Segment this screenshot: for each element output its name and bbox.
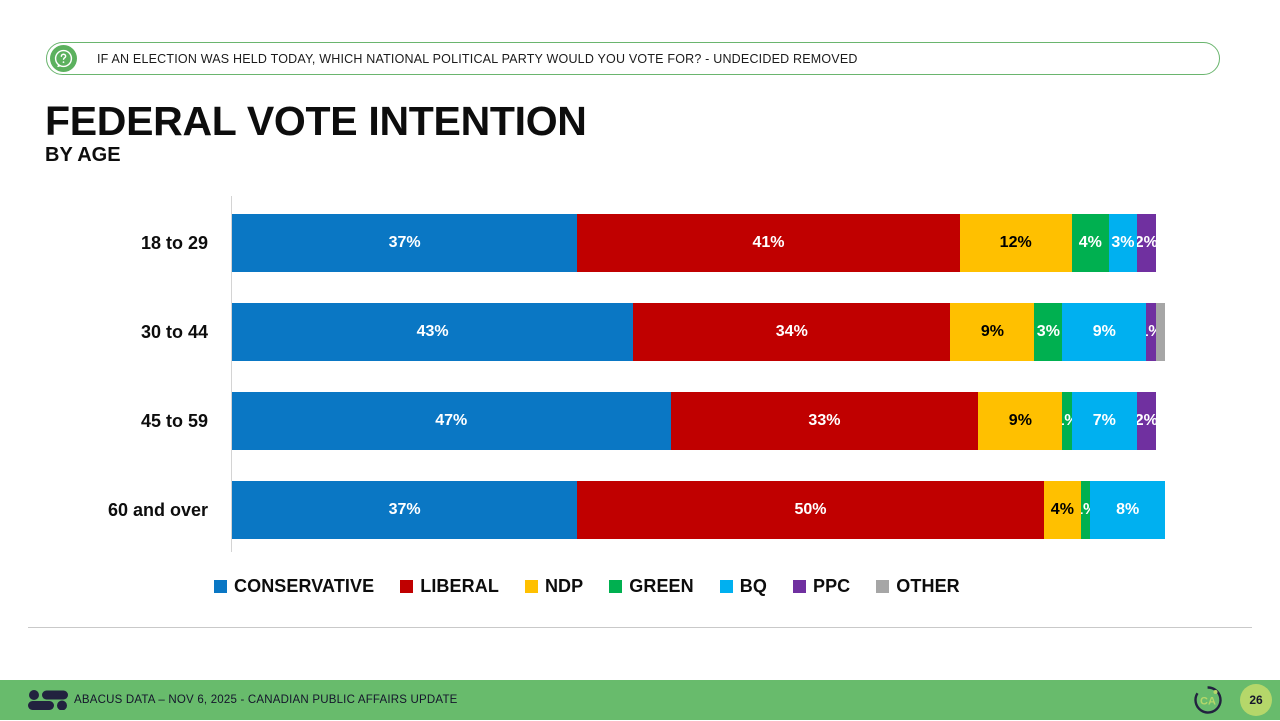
bar-segment-value: 8%	[1116, 501, 1139, 519]
question-mark-circle-icon	[50, 45, 77, 72]
bar-segment-green: 4%	[1072, 214, 1109, 272]
bar-segment-liberal: 33%	[671, 392, 979, 450]
bar-row: 45 to 5947%33%9%1%7%2%	[0, 392, 1280, 481]
bar-track: 37%50%4%1%8%	[232, 481, 1165, 539]
legend-swatch-icon	[400, 580, 413, 593]
bottom-divider	[28, 627, 1252, 628]
legend-swatch-icon	[720, 580, 733, 593]
legend-label: NDP	[545, 576, 583, 597]
bar-row: 30 to 4443%34%9%3%9%1%	[0, 303, 1280, 392]
bar-track: 47%33%9%1%7%2%	[232, 392, 1165, 450]
bar-segment-liberal: 34%	[633, 303, 950, 361]
bar-segment-value: 1%	[1062, 412, 1071, 430]
bar-segment-bq: 3%	[1109, 214, 1137, 272]
bar-segment-value: 9%	[1093, 323, 1116, 341]
bar-segment-ndp: 4%	[1044, 481, 1081, 539]
chart-legend: CONSERVATIVELIBERALNDPGREENBQPPCOTHER	[214, 574, 986, 598]
legend-label: LIBERAL	[420, 576, 499, 597]
bar-segment-ppc: 2%	[1137, 392, 1156, 450]
bar-row-label: 60 and over	[0, 481, 208, 539]
bar-segment-green: 1%	[1081, 481, 1090, 539]
bar-segment-ppc: 2%	[1137, 214, 1156, 272]
legend-item-other[interactable]: OTHER	[876, 576, 960, 597]
question-text: IF AN ELECTION WAS HELD TODAY, WHICH NAT…	[97, 52, 858, 66]
page-title: FEDERAL VOTE INTENTION	[45, 101, 587, 142]
legend-item-ppc[interactable]: PPC	[793, 576, 850, 597]
bar-segment-value: 4%	[1079, 234, 1102, 252]
bar-segment-value: 37%	[389, 501, 421, 519]
bar-segment-ndp: 9%	[978, 392, 1062, 450]
bar-segment-conservative: 37%	[232, 481, 577, 539]
bar-segment-other	[1156, 303, 1165, 361]
bar-row-label: 30 to 44	[0, 303, 208, 361]
bar-segment-green: 1%	[1062, 392, 1071, 450]
bar-segment-value: 41%	[752, 234, 784, 252]
legend-swatch-icon	[525, 580, 538, 593]
bar-segment-liberal: 50%	[577, 481, 1044, 539]
bar-segment-value: 3%	[1111, 234, 1134, 252]
legend-label: PPC	[813, 576, 850, 597]
bar-segment-value: 1%	[1081, 501, 1090, 519]
legend-swatch-icon	[793, 580, 806, 593]
legend-label: GREEN	[629, 576, 694, 597]
legend-swatch-icon	[609, 580, 622, 593]
bar-segment-value: 7%	[1093, 412, 1116, 430]
legend-item-green[interactable]: GREEN	[609, 576, 694, 597]
bar-segment-value: 50%	[794, 501, 826, 519]
bar-segment-conservative: 47%	[232, 392, 671, 450]
bar-segment-ndp: 12%	[960, 214, 1072, 272]
bar-segment-value: 1%	[1146, 323, 1155, 341]
legend-label: CONSERVATIVE	[234, 576, 374, 597]
bar-segment-conservative: 37%	[232, 214, 577, 272]
bar-segment-value: 2%	[1137, 412, 1156, 430]
canadian-affairs-logo-icon: CA	[1192, 684, 1224, 716]
page-subtitle: BY AGE	[45, 145, 121, 165]
bar-segment-value: 43%	[417, 323, 449, 341]
bar-segment-conservative: 43%	[232, 303, 633, 361]
bar-segment-value: 34%	[776, 323, 808, 341]
bar-segment-value: 9%	[981, 323, 1004, 341]
footer-text: ABACUS DATA – NOV 6, 2025 - CANADIAN PUB…	[74, 680, 458, 720]
legend-item-conservative[interactable]: CONSERVATIVE	[214, 576, 374, 597]
bar-segment-value: 3%	[1037, 323, 1060, 341]
bar-segment-green: 3%	[1034, 303, 1062, 361]
bar-row: 60 and over37%50%4%1%8%	[0, 481, 1280, 570]
bar-segment-value: 12%	[1000, 234, 1032, 252]
legend-item-ndp[interactable]: NDP	[525, 576, 583, 597]
footer-bar: ABACUS DATA – NOV 6, 2025 - CANADIAN PUB…	[0, 680, 1280, 720]
bar-segment-value: 9%	[1009, 412, 1032, 430]
bar-track: 43%34%9%3%9%1%	[232, 303, 1165, 361]
bar-track: 37%41%12%4%3%2%	[232, 214, 1165, 272]
stacked-bar-chart: 18 to 2937%41%12%4%3%2%30 to 4443%34%9%3…	[0, 190, 1280, 555]
legend-item-bq[interactable]: BQ	[720, 576, 767, 597]
bar-segment-value: 33%	[808, 412, 840, 430]
bar-segment-ppc: 1%	[1146, 303, 1155, 361]
legend-swatch-icon	[876, 580, 889, 593]
legend-label: BQ	[740, 576, 767, 597]
bar-segment-ndp: 9%	[950, 303, 1034, 361]
bar-segment-value: 47%	[435, 412, 467, 430]
bar-segment-value: 37%	[389, 234, 421, 252]
legend-label: OTHER	[896, 576, 960, 597]
bar-segment-bq: 7%	[1072, 392, 1137, 450]
bar-segment-bq: 8%	[1090, 481, 1165, 539]
bar-row-label: 18 to 29	[0, 214, 208, 272]
legend-item-liberal[interactable]: LIBERAL	[400, 576, 499, 597]
bar-segment-value: 4%	[1051, 501, 1074, 519]
legend-swatch-icon	[214, 580, 227, 593]
bar-segment-liberal: 41%	[577, 214, 960, 272]
bar-segment-bq: 9%	[1062, 303, 1146, 361]
bar-row-label: 45 to 59	[0, 392, 208, 450]
abacus-data-logo-icon	[28, 690, 70, 710]
bar-row: 18 to 2937%41%12%4%3%2%	[0, 214, 1280, 303]
question-banner: IF AN ELECTION WAS HELD TODAY, WHICH NAT…	[46, 42, 1220, 75]
bar-segment-value: 2%	[1137, 234, 1156, 252]
page-number-badge: 26	[1240, 684, 1272, 716]
svg-text:CA: CA	[1200, 696, 1216, 708]
